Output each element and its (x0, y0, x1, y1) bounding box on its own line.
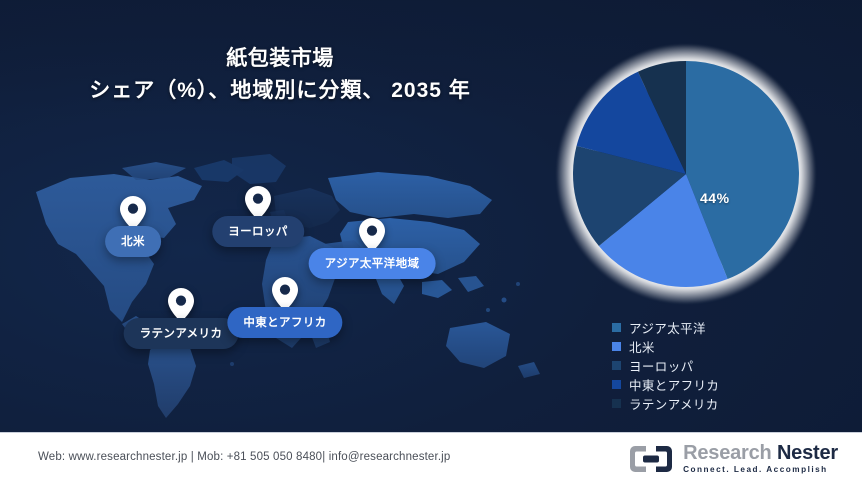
legend-swatch-icon (612, 323, 621, 332)
logo-title-nester: Nester (777, 442, 838, 464)
map-pin-icon (120, 196, 146, 230)
pie-slice-label-asia-pacific: 44% (700, 190, 730, 206)
logo-title: Research Nester (683, 443, 838, 463)
legend-label: ラテンアメリカ (629, 394, 719, 413)
logo-title-research: Research (683, 442, 771, 464)
title-line-1: 紙包装市場 (0, 44, 560, 74)
title-line-2: シェア（%）、地域別に分類、 2035 年 (0, 74, 560, 108)
map-pin-icon (245, 186, 271, 220)
footer-bar: Web: www.researchnester.jp | Mob: +81 50… (0, 432, 862, 485)
logo-tagline: Connect. Lead. Accomplish (683, 466, 838, 474)
legend-item-asia-pacific[interactable]: アジア太平洋 (612, 318, 719, 337)
legend-label: ヨーロッパ (629, 356, 694, 375)
research-nester-logo-icon (628, 444, 674, 474)
legend-label: 北米 (629, 337, 655, 356)
legend-swatch-icon (612, 361, 621, 370)
map-label-asia-pacific[interactable]: アジア太平洋地域 (309, 248, 436, 279)
map-pin-icon (168, 288, 194, 322)
pie-chart-svg (556, 44, 816, 304)
logo-text-block: Research Nester Connect. Lead. Accomplis… (683, 443, 838, 474)
footer-contact-text: Web: www.researchnester.jp | Mob: +81 50… (38, 451, 450, 463)
map-label-latin-america[interactable]: ラテンアメリカ (124, 318, 239, 349)
legend-label: 中東とアフリカ (629, 375, 719, 394)
slide-root: 紙包装市場 シェア（%）、地域別に分類、 2035 年 (0, 0, 862, 485)
legend-swatch-icon (612, 342, 621, 351)
legend-item-europe[interactable]: ヨーロッパ (612, 356, 719, 375)
map-label-north-america[interactable]: 北米 (105, 226, 161, 257)
page-title: 紙包装市場 シェア（%）、地域別に分類、 2035 年 (0, 44, 560, 108)
map-label-europe[interactable]: ヨーロッパ (212, 216, 304, 247)
legend-item-latin-america[interactable]: ラテンアメリカ (612, 394, 719, 413)
map-label-middle-east-africa[interactable]: 中東とアフリカ (227, 307, 342, 338)
map-pin-icon (359, 218, 385, 252)
pie-chart: 44% (556, 44, 816, 304)
dark-canvas: 紙包装市場 シェア（%）、地域別に分類、 2035 年 (0, 0, 862, 432)
legend-swatch-icon (612, 380, 621, 389)
legend-item-middle-east-africa[interactable]: 中東とアフリカ (612, 375, 719, 394)
brand-logo[interactable]: Research Nester Connect. Lead. Accomplis… (628, 443, 838, 474)
map-pin-icon (272, 277, 298, 311)
legend-swatch-icon (612, 399, 621, 408)
legend-item-north-america[interactable]: 北米 (612, 337, 719, 356)
legend-label: アジア太平洋 (629, 318, 706, 337)
chart-legend: アジア太平洋 北米 ヨーロッパ 中東とアフリカ ラテンアメリカ (612, 318, 719, 413)
